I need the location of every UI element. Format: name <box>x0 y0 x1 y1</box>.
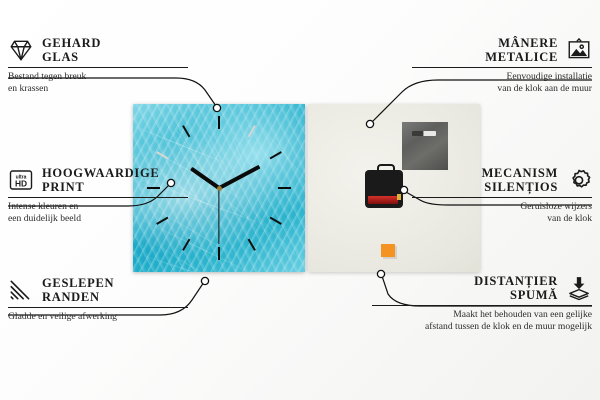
diamond-icon <box>8 37 34 63</box>
feature-rule <box>412 67 592 68</box>
picture-frame-icon <box>566 37 592 63</box>
feature-title: GEHARD GLAS <box>42 36 101 64</box>
gear-icon <box>566 167 592 193</box>
leader-dot-geslepen-randen <box>201 277 208 284</box>
feature-description: Gladde en veilige afwerking <box>8 311 198 323</box>
feature-manere-metalice: MÂNERE METALICE Eenvoudige installatie v… <box>402 36 592 94</box>
infographic-canvas: GEHARD GLAS Bestand tegen breuk en krass… <box>0 0 600 400</box>
feature-description: Bestand tegen breuk en krassen <box>8 71 198 94</box>
ultra-hd-icon: ultra HD <box>8 167 34 193</box>
feature-rule <box>8 307 188 308</box>
feature-description: Maakt het behouden van een gelijke afsta… <box>362 309 592 332</box>
feature-hoogwaardige-print: ultra HD HOOGWAARDIGE PRINT Intense kleu… <box>8 166 198 224</box>
feature-description: Eenvoudige installatie van de klok aan d… <box>402 71 592 94</box>
feature-rule <box>372 305 592 306</box>
leader-dot-gehard-glas <box>213 104 220 111</box>
feature-title: MECANISM SILENȚIOS <box>482 166 558 194</box>
leader-dot-manere-metalice <box>366 120 373 127</box>
feature-description: Geruisloze wijzers van de klok <box>402 201 592 224</box>
feature-title: HOOGWAARDIGE PRINT <box>42 166 159 194</box>
feature-title: DISTANȚIER SPUMĂ <box>474 274 558 302</box>
feature-gehard-glas: GEHARD GLAS Bestand tegen breuk en krass… <box>8 36 198 94</box>
feature-mecanism-silentios: MECANISM SILENȚIOS Geruisloze wijzers va… <box>402 166 592 224</box>
feature-rule <box>412 197 592 198</box>
feature-description: Intense kleuren en een duidelijk beeld <box>8 201 198 224</box>
feature-distantier-spuma: DISTANȚIER SPUMĂ Maakt het behouden van … <box>362 274 592 332</box>
download-layers-icon <box>566 275 592 301</box>
feature-title: MÂNERE METALICE <box>485 36 558 64</box>
feature-rule <box>8 197 188 198</box>
feature-rule <box>8 67 188 68</box>
feature-title: GESLEPEN RANDEN <box>42 276 114 304</box>
feature-geslepen-randen: GESLEPEN RANDEN Gladde en veilige afwerk… <box>8 276 198 323</box>
svg-text:HD: HD <box>15 179 27 189</box>
beveled-edge-icon <box>8 277 34 303</box>
